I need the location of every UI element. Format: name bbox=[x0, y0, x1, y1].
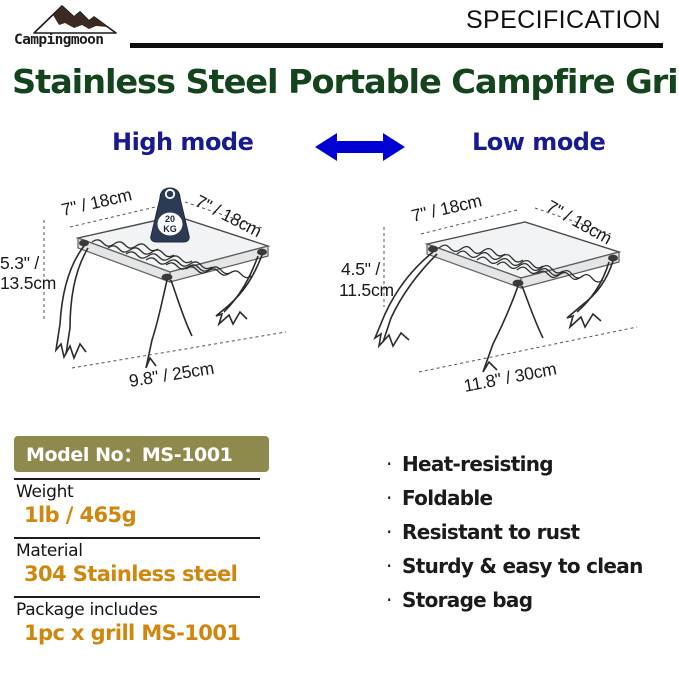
page-title: Stainless Steel Portable Campfire Grill bbox=[12, 62, 679, 101]
product-diagram-high-mode: 20 KG 7" / 18cm 7" / 18cm 5.3" / 13.5cm … bbox=[0, 172, 340, 407]
model-number-badge: Model No：MS-1001 bbox=[14, 436, 269, 472]
dim-height-high-line2: 13.5cm bbox=[0, 273, 56, 293]
feature-label: Sturdy & easy to clean bbox=[402, 554, 643, 578]
bullet-icon: · bbox=[386, 556, 402, 576]
spec-key-package: Package includes bbox=[14, 600, 276, 620]
spec-row-package: Package includes 1pc x grill MS-1001 bbox=[14, 598, 276, 649]
spec-value-package: 1pc x grill MS-1001 bbox=[14, 621, 276, 645]
specification-table: Model No：MS-1001 Weight 1lb / 465g Mater… bbox=[14, 436, 276, 649]
specification-page: Campingmoon SPECIFICATION Stainless Stee… bbox=[0, 0, 679, 673]
feature-label: Resistant to rust bbox=[402, 520, 579, 544]
bullet-icon: · bbox=[386, 522, 402, 542]
bullet-icon: · bbox=[386, 488, 402, 508]
label-low-mode: Low mode bbox=[472, 128, 605, 156]
brand-logo: Campingmoon bbox=[14, 4, 132, 54]
feature-label: Foldable bbox=[402, 486, 492, 510]
bullet-icon: · bbox=[386, 454, 402, 474]
grill-illustration-low: 7" / 18cm 7" / 18cm 4.5" / 11.5cm 11.8" … bbox=[339, 190, 637, 396]
dim-height-low-line1: 4.5" / bbox=[341, 259, 380, 279]
weight-badge-value: 20 bbox=[165, 214, 175, 224]
list-item: · Sturdy & easy to clean bbox=[386, 554, 671, 578]
dim-height-high-line1: 5.3" / bbox=[0, 253, 39, 273]
label-high-mode: High mode bbox=[112, 128, 253, 156]
grill-illustration-high: 20 KG 7" / 18cm 7" / 18cm 5.3" / 13.5cm … bbox=[0, 184, 286, 391]
weight-badge-icon: 20 KG bbox=[151, 188, 189, 242]
double-arrow-icon bbox=[315, 131, 405, 163]
spec-key-material: Material bbox=[14, 541, 276, 561]
feature-label: Heat-resisting bbox=[402, 452, 553, 476]
list-item: · Foldable bbox=[386, 486, 671, 510]
spec-row-weight: Weight 1lb / 465g bbox=[14, 480, 276, 531]
mountain-logo-icon bbox=[32, 4, 118, 34]
brand-wordmark: Campingmoon bbox=[14, 32, 132, 48]
dim-top-left-high: 7" / 18cm bbox=[59, 184, 133, 220]
dim-bottom-high: 9.8" / 25cm bbox=[127, 358, 215, 391]
list-item: · Storage bag bbox=[386, 588, 671, 612]
spec-value-weight: 1lb / 465g bbox=[14, 503, 276, 527]
list-item: · Heat-resisting bbox=[386, 452, 671, 476]
dim-top-left-low: 7" / 18cm bbox=[409, 190, 483, 226]
page-header: Campingmoon SPECIFICATION bbox=[0, 0, 679, 62]
product-diagram-low-mode: 7" / 18cm 7" / 18cm 4.5" / 11.5cm 11.8" … bbox=[339, 172, 679, 407]
spec-row-material: Material 304 Stainless steel bbox=[14, 539, 276, 590]
features-list: · Heat-resisting · Foldable · Resistant … bbox=[386, 452, 671, 622]
spec-value-material: 304 Stainless steel bbox=[14, 562, 276, 586]
spec-heading: SPECIFICATION bbox=[466, 6, 661, 35]
spec-key-weight: Weight bbox=[14, 482, 276, 502]
weight-badge-unit: KG bbox=[163, 224, 177, 234]
dim-height-low-line2: 11.5cm bbox=[339, 280, 394, 300]
bullet-icon: · bbox=[386, 590, 402, 610]
dim-bottom-low: 11.8" / 30cm bbox=[462, 358, 558, 396]
feature-label: Storage bag bbox=[402, 588, 532, 612]
header-divider bbox=[130, 43, 663, 48]
list-item: · Resistant to rust bbox=[386, 520, 671, 544]
